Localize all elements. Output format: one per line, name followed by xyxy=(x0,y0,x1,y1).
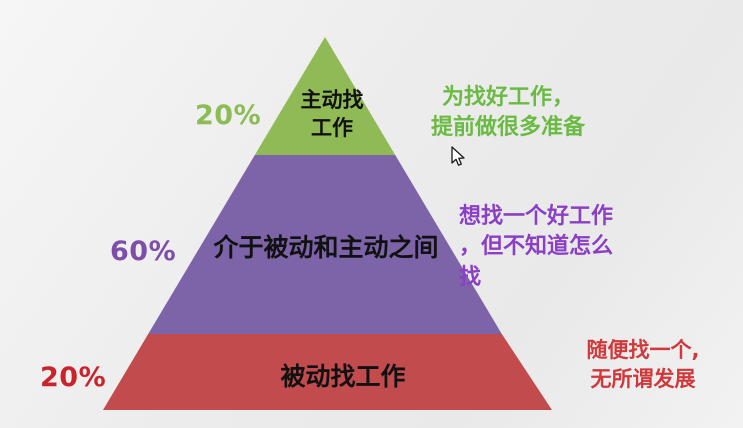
percent-label-middle: 60% xyxy=(110,236,176,269)
percent-label-bottom: 20% xyxy=(40,362,106,395)
slide-canvas: 20% 60% 20% 主动找 工作 介于被动和主动之间 被动找工作 为找好工作… xyxy=(0,0,743,428)
annotation-middle: 想找一个好工作 ，但不知道怎么 找 xyxy=(459,202,657,293)
tier-label-top: 主动找 工作 xyxy=(286,86,378,143)
percent-label-top: 20% xyxy=(195,100,261,133)
tier-label-bottom: 被动找工作 xyxy=(253,362,433,393)
annotation-top: 为找好工作， 提前做很多准备 xyxy=(408,83,608,144)
tier-label-middle: 介于被动和主动之间 xyxy=(196,233,456,264)
annotation-bottom: 随便找一个, 无所谓发展 xyxy=(548,336,738,394)
